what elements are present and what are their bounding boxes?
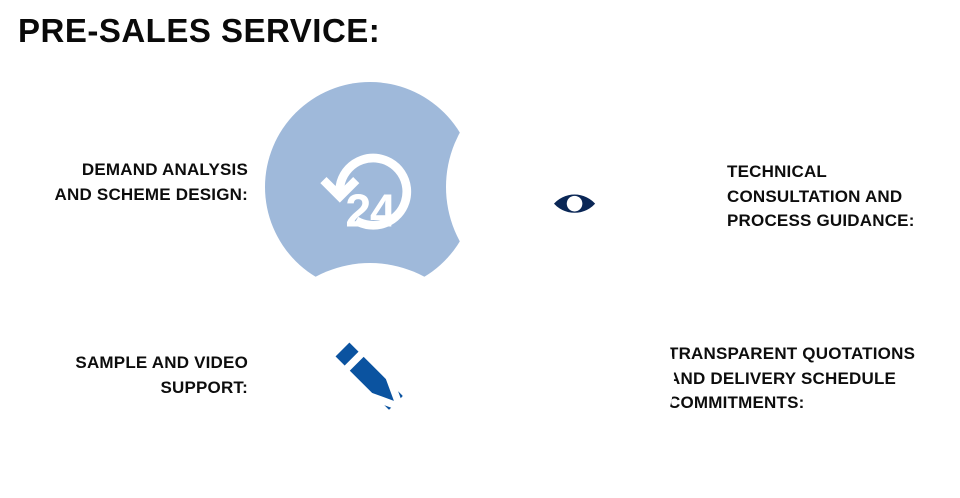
service-label-demand-analysis: DEMAND ANALYSIS AND SCHEME DESIGN: (55, 158, 248, 207)
svg-text:24: 24 (345, 184, 396, 236)
service-circle-sample-video-support[interactable] (265, 272, 475, 482)
document-eye-icon (508, 135, 612, 239)
clock-24-hour-rotate-icon: 24 (312, 129, 428, 245)
service-label-sample-video-support: SAMPLE AND VIDEO SUPPORT: (75, 351, 248, 400)
service-circle-technical-consultation[interactable] (455, 82, 665, 292)
service-circle-demand-analysis[interactable]: 24 (265, 82, 475, 292)
service-circle-transparent-quotations[interactable] (455, 272, 665, 482)
pen-ruler-icon (314, 321, 426, 433)
service-circle-cluster: 24 (265, 82, 665, 482)
service-label-technical-consultation: TECHNICAL CONSULTATION AND PROCESS GUIDA… (727, 160, 915, 234)
service-label-transparent-quotations: TRANSPARENT QUOTATIONS AND DELIVERY SCHE… (668, 342, 915, 416)
shield-check-icon (508, 325, 612, 429)
page-title: PRE-SALES SERVICE: (18, 12, 380, 50)
